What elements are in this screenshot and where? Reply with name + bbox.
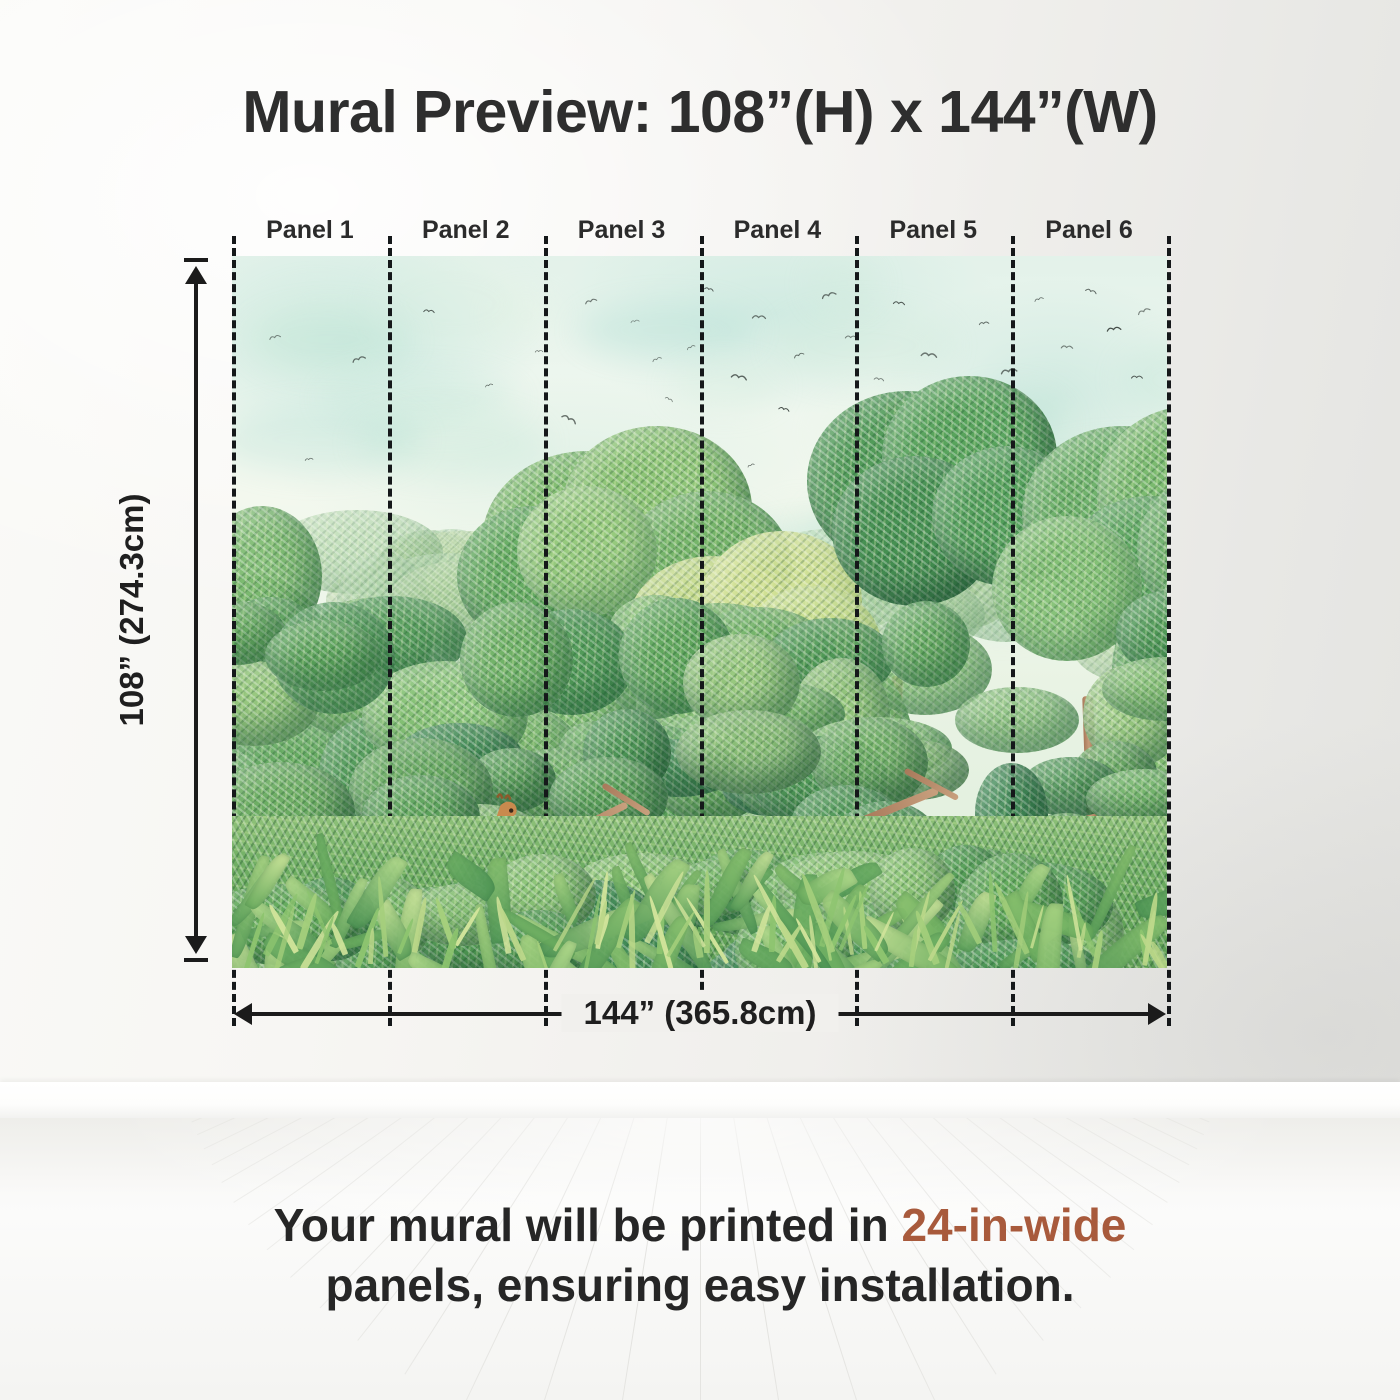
caption-line2: panels, ensuring easy installation. — [325, 1259, 1074, 1311]
floor-plank-seam — [233, 1118, 700, 1203]
height-cap-top — [184, 258, 208, 262]
installation-caption: Your mural will be printed in 24-in-wide… — [0, 1196, 1400, 1316]
floor-plank-seam — [204, 1118, 701, 1149]
width-dimension-label: 144” (365.8cm) — [562, 994, 839, 1032]
height-dimension-arrow — [176, 258, 216, 962]
caption-line1-before: Your mural will be printed in — [274, 1199, 902, 1251]
height-dimension-label: 108” (274.3cm) — [113, 494, 151, 727]
panel-label-6: Panel 6 — [1011, 212, 1167, 248]
mural-scene — [232, 256, 1167, 968]
panel-label-5: Panel 5 — [855, 212, 1011, 248]
grass-blade — [703, 870, 709, 953]
mural-artwork[interactable] — [232, 256, 1167, 968]
page-title: Mural Preview: 108”(H) x 144”(W) — [0, 78, 1400, 146]
height-cap-bottom — [184, 958, 208, 962]
height-arrowhead-down — [185, 936, 207, 954]
floor-plank-seam — [212, 1118, 701, 1165]
width-arrowhead-left — [234, 1003, 252, 1025]
floor-plank-seam — [700, 1118, 1179, 1183]
panel-label-2: Panel 2 — [388, 212, 544, 248]
height-shaft — [194, 270, 198, 950]
floor-plank-seam — [221, 1118, 700, 1183]
baseboard — [0, 1082, 1400, 1122]
floor-plank-seam — [191, 1118, 700, 1122]
height-arrowhead-up — [185, 266, 207, 284]
width-arrowhead-right — [1148, 1003, 1166, 1025]
understory-foliage-layer — [232, 256, 1167, 968]
mural-preview-stage: Mural Preview: 108”(H) x 144”(W) Panel 1… — [0, 0, 1400, 1400]
panel-label-4: Panel 4 — [699, 212, 855, 248]
panel-label-3: Panel 3 — [544, 212, 700, 248]
panel-label-row: Panel 1 Panel 2 Panel 3 Panel 4 Panel 5 … — [232, 212, 1167, 248]
caption-accent-text: 24-in-wide — [901, 1199, 1126, 1251]
panel-label-1: Panel 1 — [232, 212, 388, 248]
